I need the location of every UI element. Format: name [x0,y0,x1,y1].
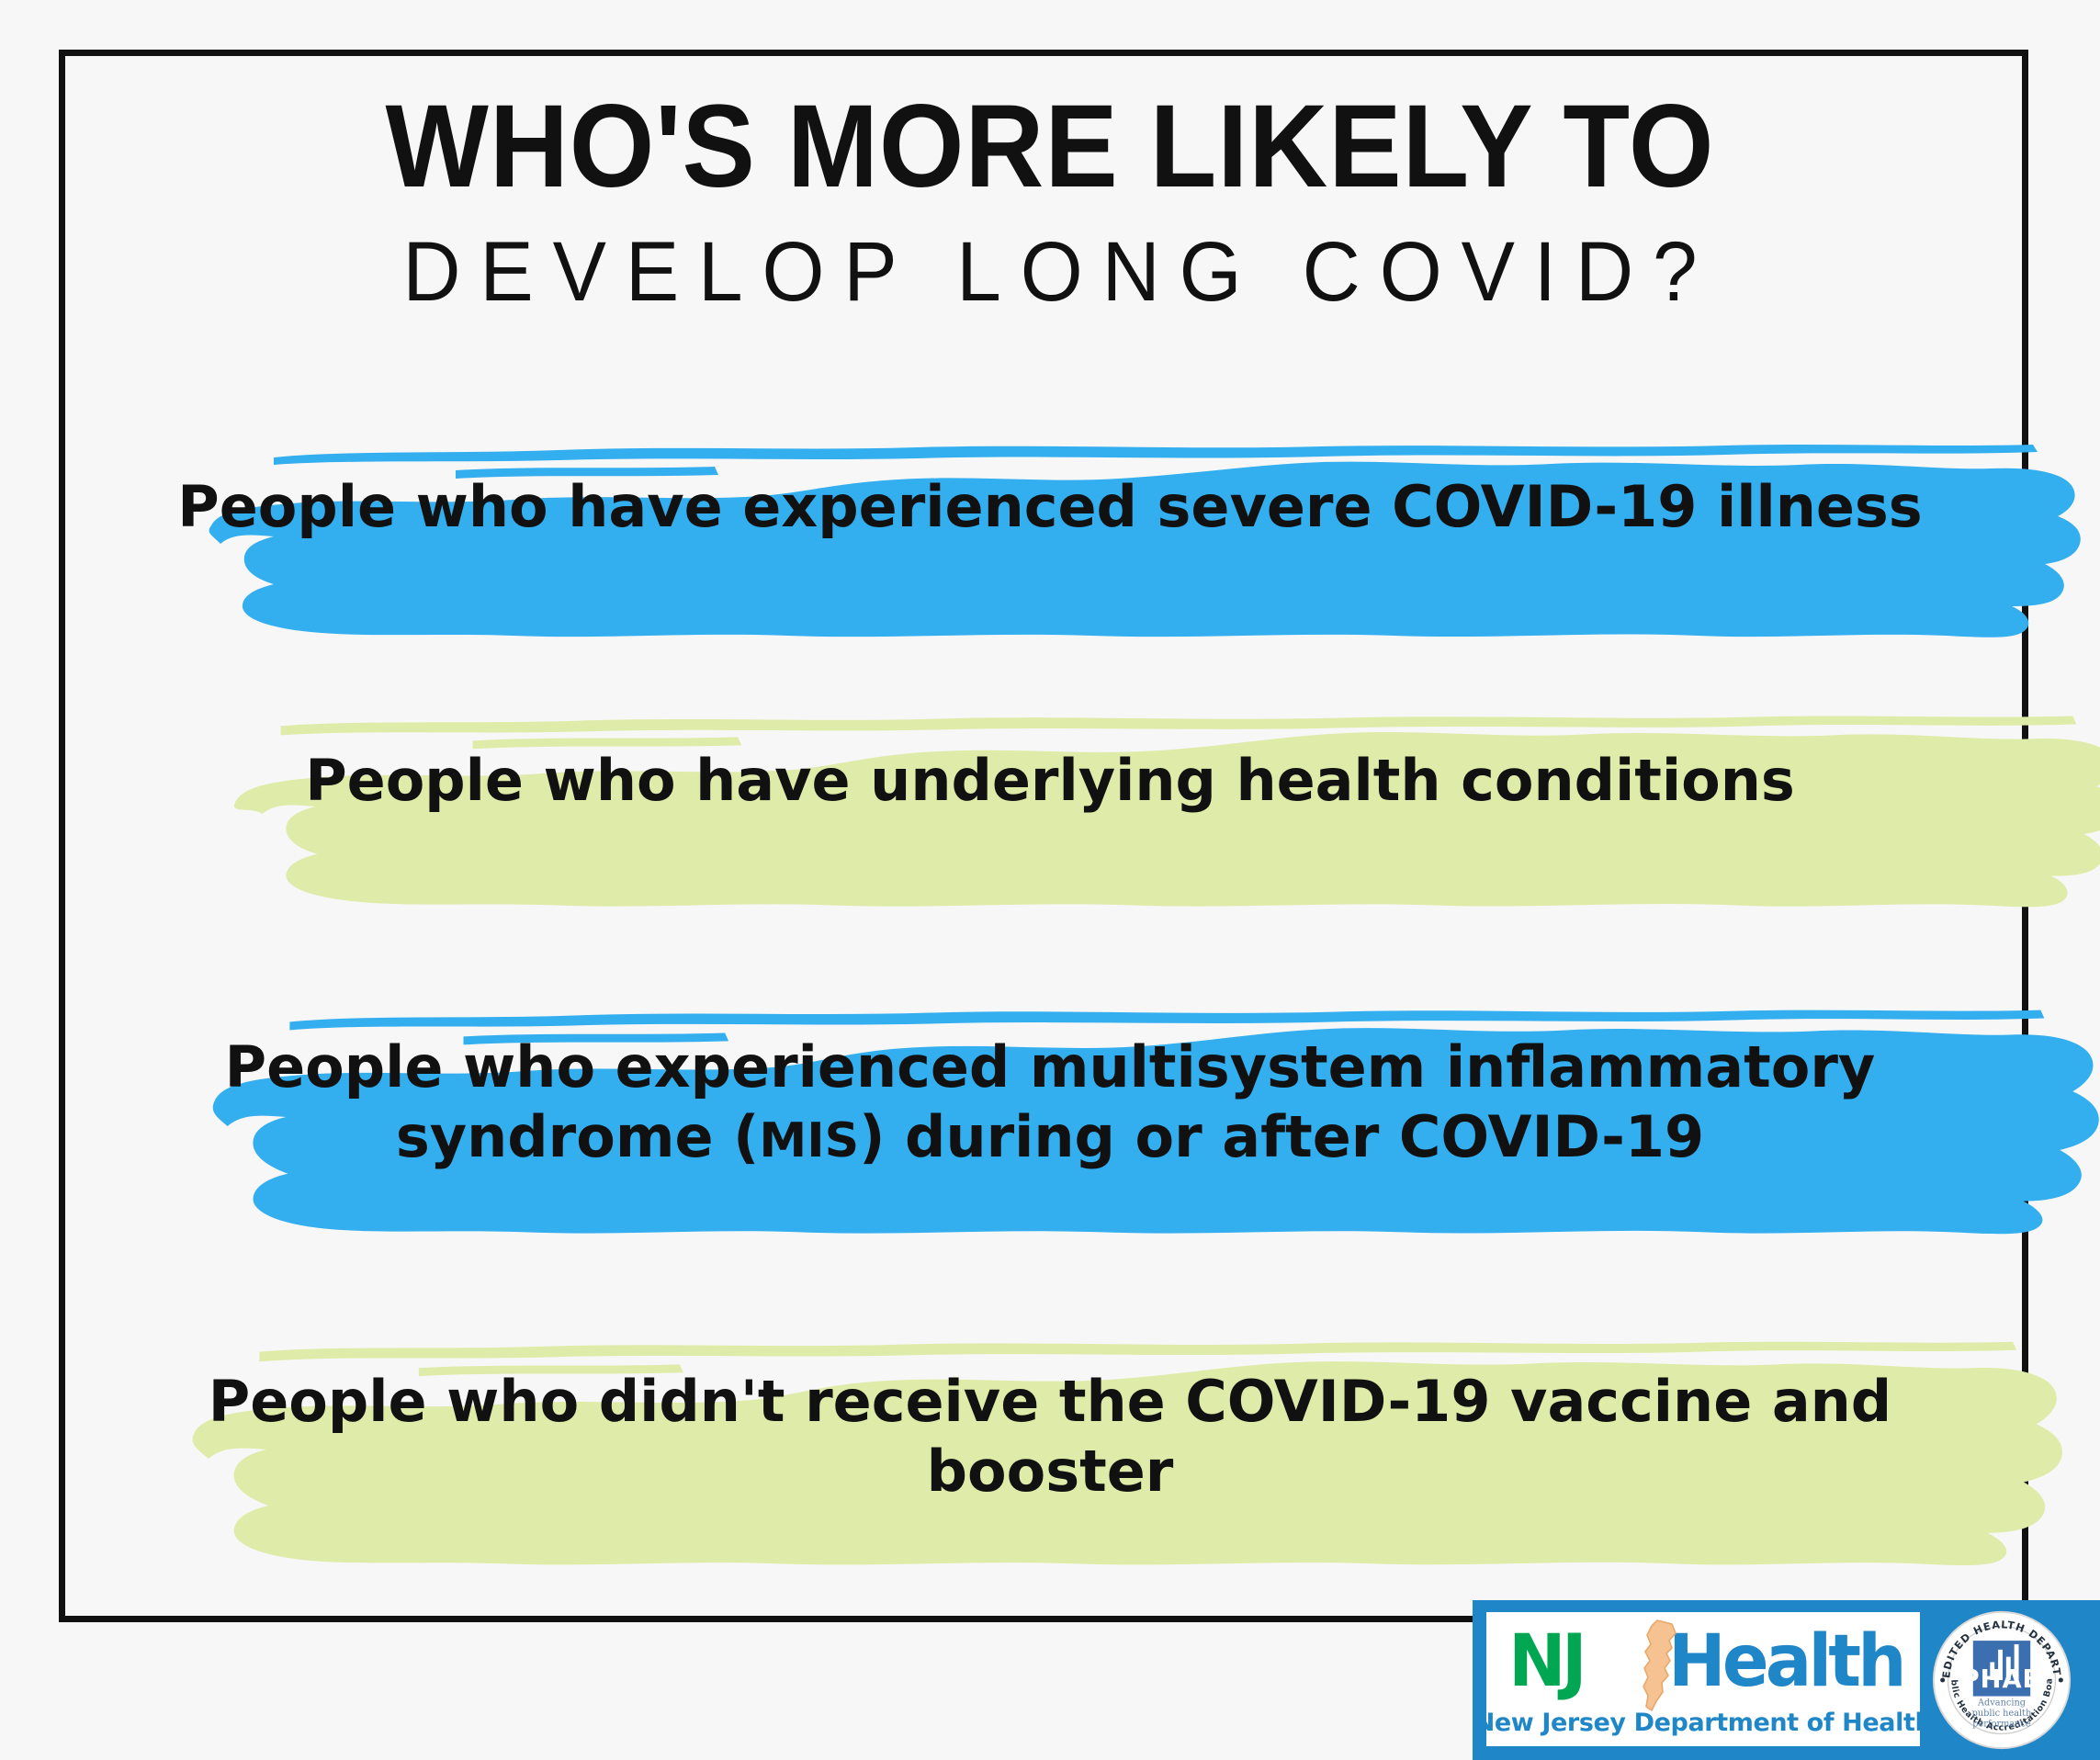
nj-health-wordmark: NJ Health [1496,1622,1911,1707]
logo-health-text: Health [1668,1626,1903,1698]
title-line-2: DEVELOP LONG COVID? [52,230,2048,314]
phab-accreditation-seal-icon: ACCREDITED HEALTH DEPARTMENT Public Heal… [1930,1608,2073,1752]
nj-health-logo-band: NJ Health New Jersey Department of Healt… [1473,1600,2100,1760]
highlight-row-severe-illness: People who have experienced severe COVID… [0,423,2100,652]
logo-nj-text: NJ [1508,1626,1583,1698]
svg-text:performance: performance [1972,1720,2031,1730]
infographic-poster: WHO'S MORE LIKELY TO DEVELOP LONG COVID?… [0,0,2100,1760]
logo-tagline: New Jersey Department of Health [1474,1709,1933,1737]
row-text-mis-syndrome: People who experienced multisystem infla… [0,1032,2100,1171]
row-text-mis-line-1: People who experienced multisystem infla… [0,1032,2100,1102]
row-text-underlying-conditions: People who have underlying health condit… [0,746,2100,816]
new-jersey-state-icon [1631,1619,1688,1714]
row-text-mis-line-2: syndrome (MIS) during or after COVID-19 [0,1102,2100,1172]
row-text-vaccine-line-1: People who didn't receive the COVID-19 v… [0,1367,2100,1437]
mis-line2-post: ) during or after COVID-19 [859,1103,1704,1170]
mis-line2-pre: syndrome ( [396,1103,760,1170]
svg-text:Advancing: Advancing [1977,1698,2026,1708]
highlight-row-no-vaccine: People who didn't receive the COVID-19 v… [0,1319,2100,1585]
highlight-row-mis-syndrome: People who experienced multisystem infla… [0,988,2100,1255]
nj-health-logo: NJ Health New Jersey Department of Healt… [1484,1609,1923,1749]
row-text-vaccine-line-2: booster [0,1437,2100,1506]
row-text-severe-illness: People who have experienced severe COVID… [0,472,2100,542]
row-text-no-vaccine: People who didn't receive the COVID-19 v… [0,1367,2100,1506]
svg-text:public health: public health [1972,1709,2032,1719]
svg-text:PHAB: PHAB [1961,1665,2043,1694]
mis-abbreviation: MIS [759,1113,859,1168]
title-line-1: WHO'S MORE LIKELY TO [73,88,2027,206]
page-title: WHO'S MORE LIKELY TO DEVELOP LONG COVID? [0,88,2100,314]
highlight-row-underlying-conditions: People who have underlying health condit… [0,694,2100,924]
